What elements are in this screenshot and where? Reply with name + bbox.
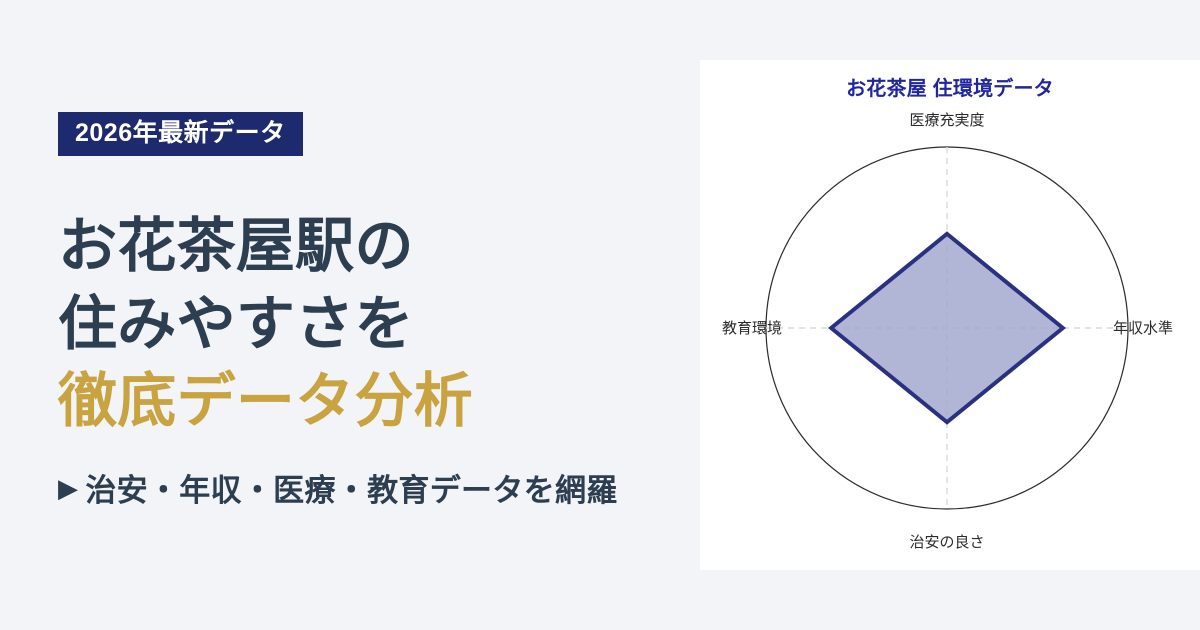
- page-title-line-1: お花茶屋駅の: [58, 208, 718, 286]
- latest-data-badge: 2026年最新データ: [58, 112, 303, 156]
- subtitle-text: 治安・年収・医療・教育データを網羅: [85, 465, 617, 510]
- radar-axis-label-right: 年収水準: [1113, 320, 1173, 337]
- triangle-right-icon: ▶: [58, 475, 78, 501]
- page-title-line-3-accent: 徹底データ分析: [58, 363, 718, 441]
- subtitle: ▶ 治安・年収・医療・教育データを網羅: [58, 465, 718, 510]
- page-title-line-2: 住みやすさを: [58, 286, 718, 364]
- radar-chart-panel: お花茶屋 住環境データ 医療充実度 年収水準 治安の良さ 教育環境: [700, 60, 1200, 570]
- radar-axis-label-bottom: 治安の良さ: [909, 534, 984, 551]
- page-title: お花茶屋駅の 住みやすさを 徹底データ分析: [58, 208, 718, 442]
- hero-text-column: 2026年最新データ お花茶屋駅の 住みやすさを 徹底データ分析 ▶ 治安・年収…: [58, 0, 718, 630]
- radar-chart-svg: 医療充実度 年収水準 治安の良さ 教育環境: [700, 60, 1200, 570]
- radar-axis-label-left: 教育環境: [722, 319, 782, 337]
- radar-axis-label-top: 医療充実度: [909, 112, 984, 129]
- radar-data-polygon: [831, 234, 1063, 422]
- poster-canvas: 2026年最新データ お花茶屋駅の 住みやすさを 徹底データ分析 ▶ 治安・年収…: [0, 0, 1200, 630]
